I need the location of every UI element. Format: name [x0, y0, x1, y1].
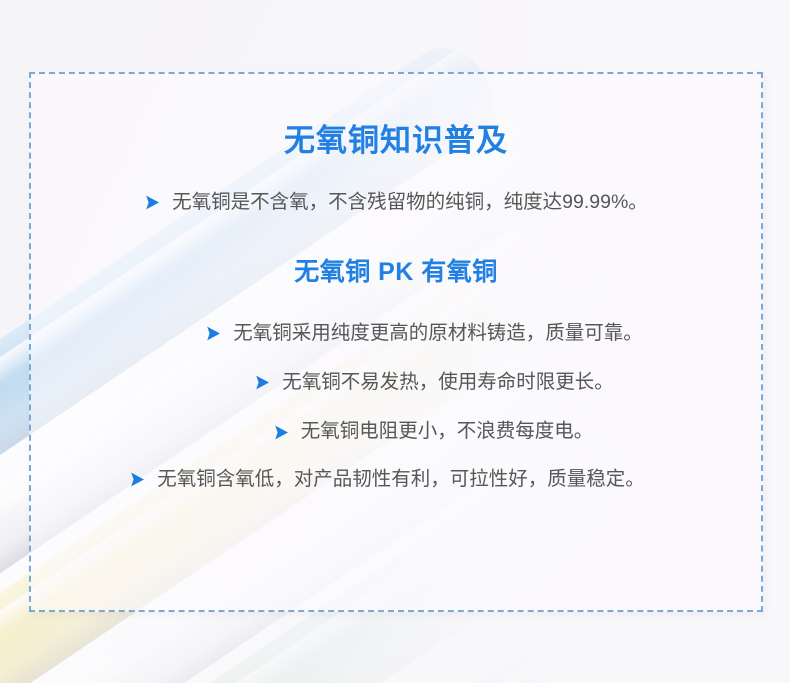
bullet-item-5: 无氧铜含氧低，对产品韧性有利，可拉性好，质量稳定。 [129, 468, 645, 491]
bullet-item-4-text: 无氧铜电阻更小，不浪费每度电。 [301, 420, 594, 443]
page-root: 无氧铜知识普及 无氧铜是不含氧，不含残留物的纯铜，纯度达99.99%。 无氧铜 … [0, 0, 790, 683]
bullet-item-3: 无氧铜不易发热，使用寿命时限更长。 [254, 371, 614, 394]
triangle-right-icon [254, 374, 271, 391]
triangle-right-icon [205, 325, 222, 342]
triangle-right-icon [144, 194, 161, 211]
triangle-right-icon [273, 424, 290, 441]
bullet-item-2: 无氧铜采用纯度更高的原材料铸造，质量可靠。 [205, 322, 643, 345]
bullet-item-4: 无氧铜电阻更小，不浪费每度电。 [273, 420, 594, 443]
page-title: 无氧铜知识普及 [284, 122, 508, 159]
bullet-item-2-text: 无氧铜采用纯度更高的原材料铸造，质量可靠。 [233, 322, 643, 345]
bullet-item-5-text: 无氧铜含氧低，对产品韧性有利，可拉性好，质量稳定。 [157, 468, 645, 491]
card-content: 无氧铜知识普及 无氧铜是不含氧，不含残留物的纯铜，纯度达99.99%。 无氧铜 … [29, 72, 763, 612]
bullet-item-1-text: 无氧铜是不含氧，不含残留物的纯铜，纯度达99.99%。 [172, 191, 648, 214]
bullet-item-3-text: 无氧铜不易发热，使用寿命时限更长。 [282, 371, 614, 394]
bullet-item-1: 无氧铜是不含氧，不含残留物的纯铜，纯度达99.99%。 [144, 191, 648, 214]
triangle-right-icon [129, 471, 146, 488]
section-subtitle: 无氧铜 PK 有氧铜 [294, 257, 498, 287]
